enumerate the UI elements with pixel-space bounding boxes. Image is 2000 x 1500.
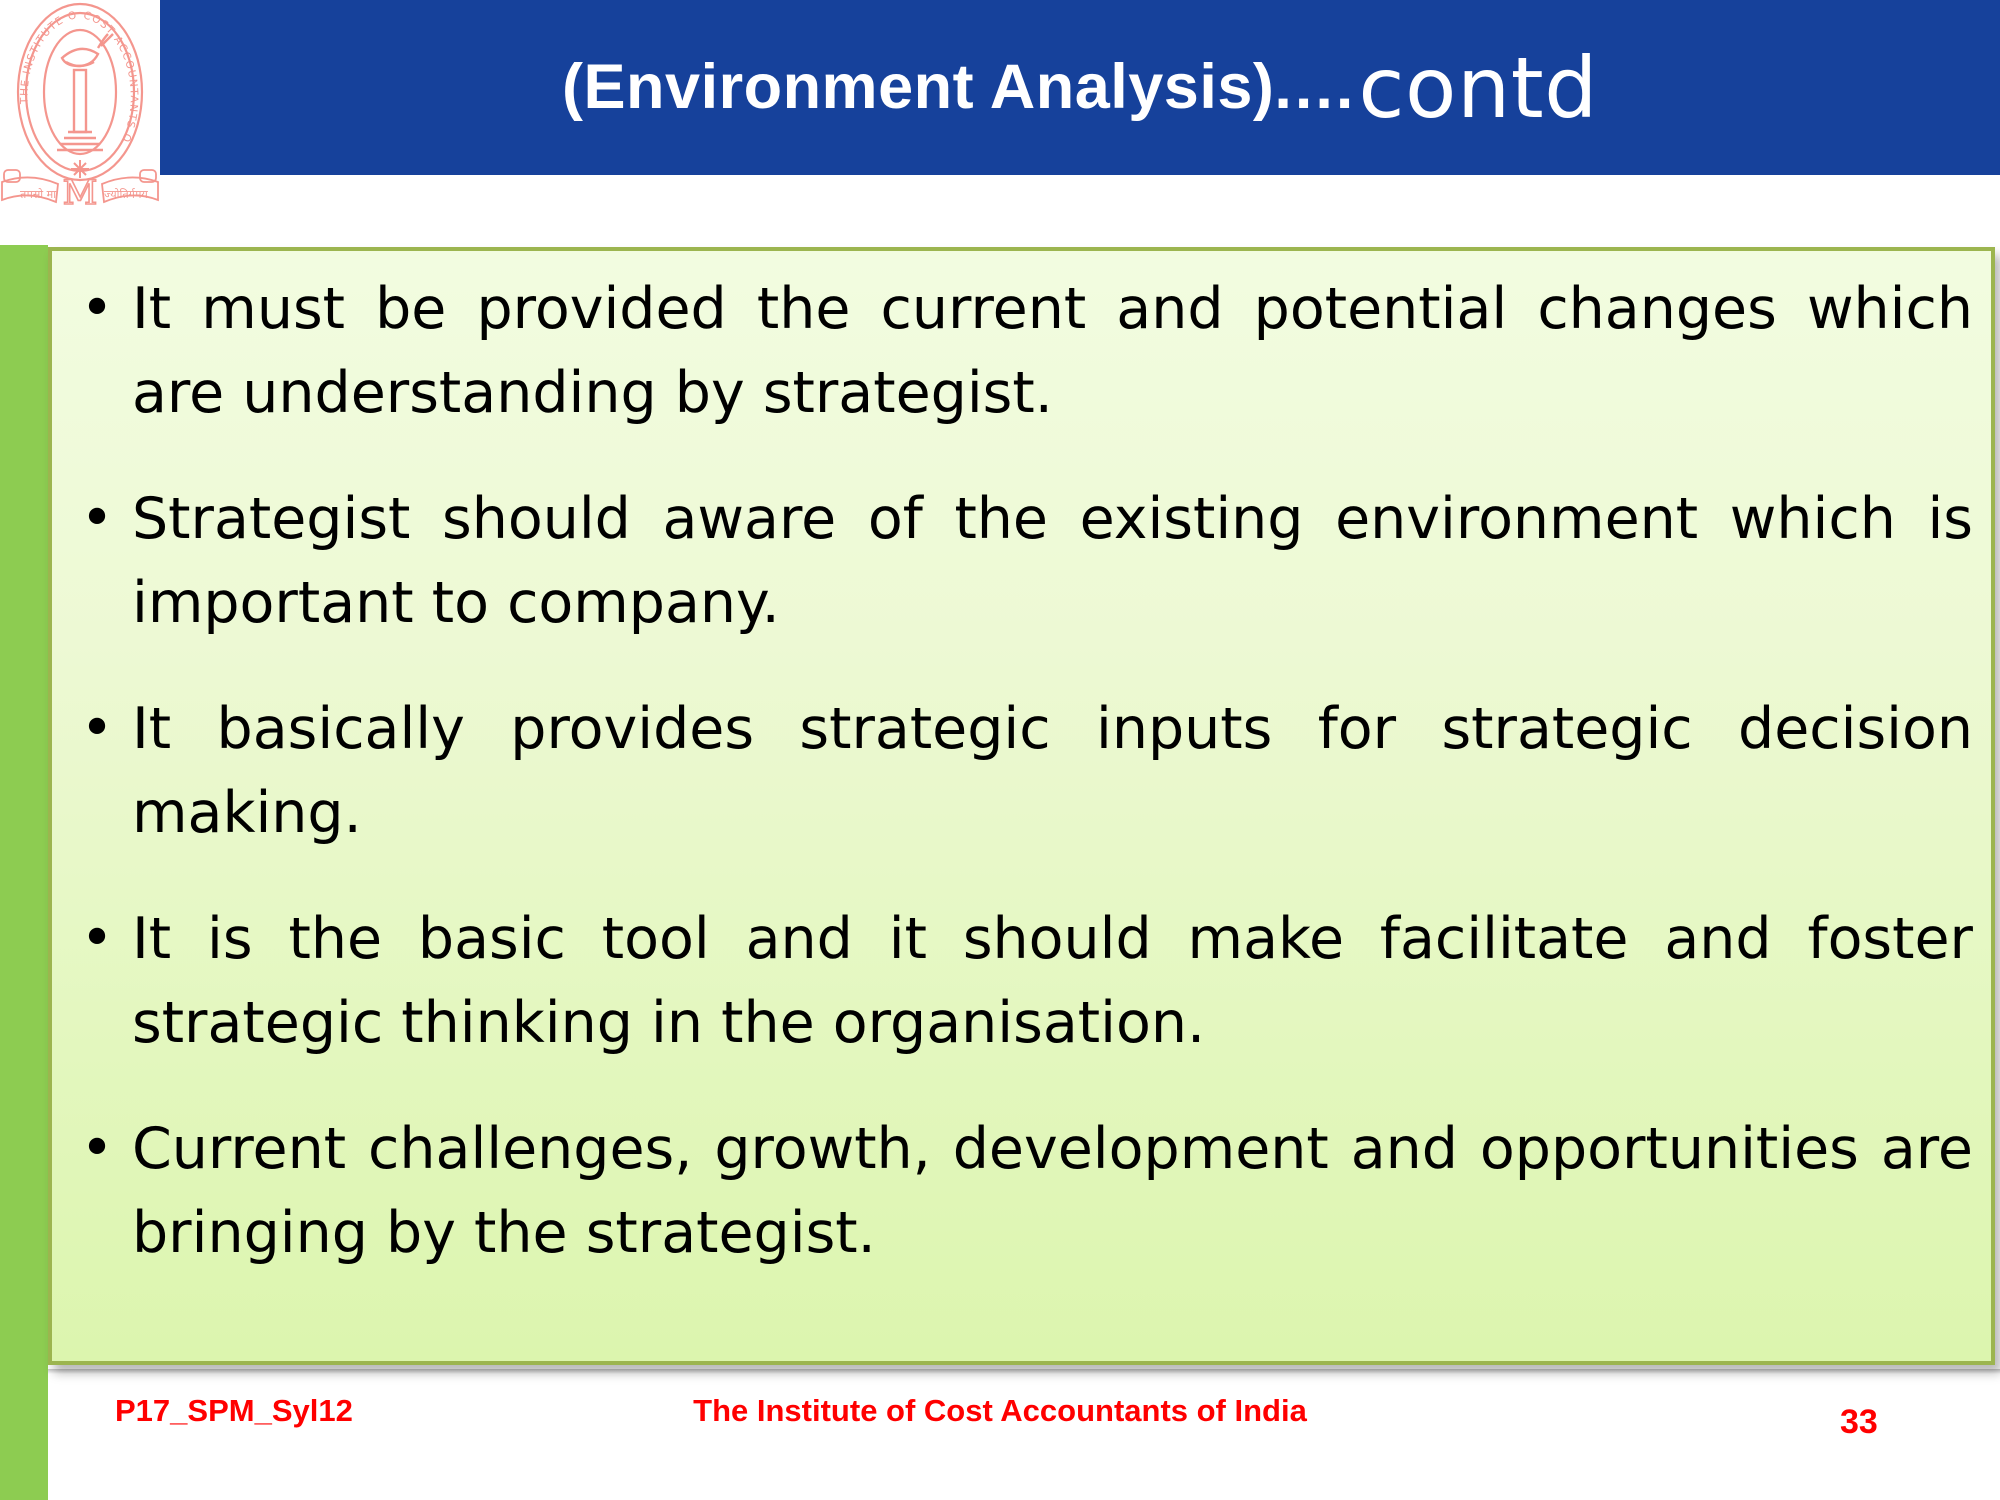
list-item-text: It must be provided the current and pote… <box>132 267 1977 435</box>
page-number: 33 <box>1840 1403 1878 1442</box>
list-item-text: It is the basic tool and it should make … <box>132 897 1977 1065</box>
list-item: • It basically provides strategic inputs… <box>62 687 1977 855</box>
bullet-point-icon: • <box>62 687 132 771</box>
institute-logo-icon: M तमसो मा ज्योतिर्गमय THE INSTITUTE OF C… <box>0 0 160 215</box>
page-title-dots: .... <box>1274 56 1356 119</box>
logo-motto-right: ज्योतिर्गमय <box>104 188 148 201</box>
logo-area: M तमसो मा ज्योतिर्गमय THE INSTITUTE OF C… <box>0 0 160 215</box>
bullet-point-icon: • <box>62 1107 132 1191</box>
page-title: (Environment Analysis)....contd <box>160 0 2000 175</box>
footer-divider <box>48 1369 2000 1374</box>
list-item-text: Current challenges, growth, development … <box>132 1107 1977 1275</box>
bullet-point-icon: • <box>62 897 132 981</box>
list-item: • It must be provided the current and po… <box>62 267 1977 435</box>
footer-institute-name: The Institute of Cost Accountants of Ind… <box>0 1393 2000 1429</box>
left-accent-strip <box>0 245 48 1500</box>
page-title-main: (Environment Analysis) <box>562 56 1274 119</box>
bullet-list: • It must be provided the current and po… <box>62 267 1977 1275</box>
logo-motto-left: तमसो मा <box>20 188 56 201</box>
list-item: • Current challenges, growth, developmen… <box>62 1107 1977 1275</box>
list-item: • It is the basic tool and it should mak… <box>62 897 1977 1065</box>
svg-text:M: M <box>63 173 98 213</box>
list-item-text: Strategist should aware of the existing … <box>132 477 1977 645</box>
page-title-contd: contd <box>1358 46 1598 130</box>
list-item-text: It basically provides strategic inputs f… <box>132 687 1977 855</box>
list-item: • Strategist should aware of the existin… <box>62 477 1977 645</box>
bullet-point-icon: • <box>62 267 132 351</box>
bullet-point-icon: • <box>62 477 132 561</box>
content-panel: • It must be provided the current and po… <box>48 247 1995 1365</box>
svg-text:THE INSTITUTE OF: THE INSTITUTE OF <box>0 0 79 105</box>
